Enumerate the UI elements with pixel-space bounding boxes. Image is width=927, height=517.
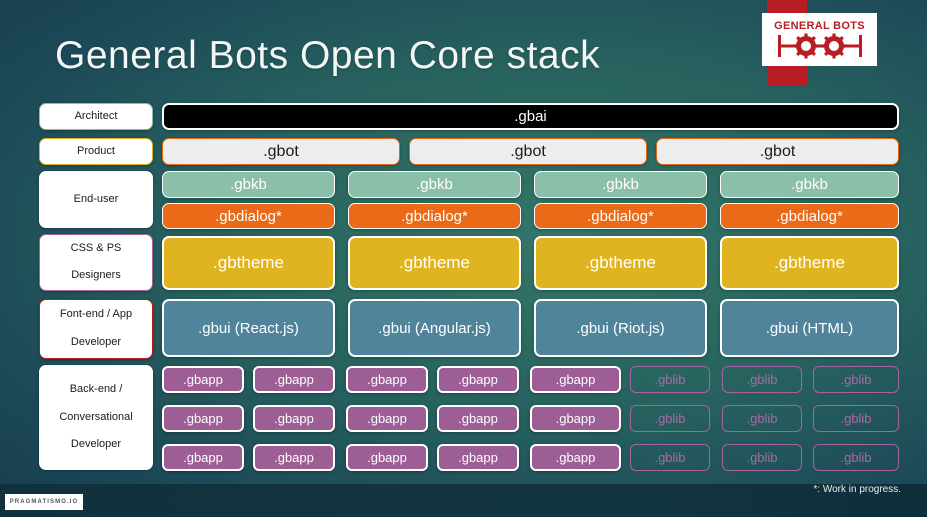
block-gbot[interactable]: .gbot — [409, 138, 647, 165]
row-label-front-end-app-developer[interactable]: Font-end / AppDeveloper — [39, 299, 153, 359]
row-label-css-ps-designers[interactable]: CSS & PSDesigners — [39, 234, 153, 291]
pragmatismo-logo: PRAGMATISMO.IO — [5, 494, 83, 510]
block-gbkb[interactable]: .gbkb — [720, 171, 899, 198]
general-bots-logo: GENERAL BOTS — [762, 13, 877, 66]
row-label-architect[interactable]: Architect — [39, 103, 153, 130]
block-gblib[interactable]: .gblib — [722, 405, 802, 432]
block-gbkb[interactable]: .gbkb — [534, 171, 707, 198]
block-gbui[interactable]: .gbui (Riot.js) — [534, 299, 707, 357]
block-gbapp[interactable]: .gbapp — [530, 444, 621, 471]
block-gbtheme[interactable]: .gbtheme — [162, 236, 335, 290]
block-gbai[interactable]: .gbai — [162, 103, 899, 130]
block-gbapp[interactable]: .gbapp — [437, 405, 519, 432]
block-gbapp[interactable]: .gbapp — [346, 366, 428, 393]
block-gblib[interactable]: .gblib — [630, 444, 710, 471]
row-label-back-end-conversational-developer[interactable]: Back-end /ConversationalDeveloper — [39, 365, 153, 470]
block-gbapp[interactable]: .gbapp — [530, 405, 621, 432]
row-label-line: Designers — [71, 269, 121, 283]
block-gbot[interactable]: .gbot — [162, 138, 400, 165]
footnote: *: Work in progress. — [813, 484, 901, 495]
block-gbapp[interactable]: .gbapp — [253, 444, 335, 471]
block-gbapp[interactable]: .gbapp — [437, 444, 519, 471]
block-gbapp[interactable]: .gbapp — [437, 366, 519, 393]
block-gbkb[interactable]: .gbkb — [162, 171, 335, 198]
block-gbapp[interactable]: .gbapp — [253, 405, 335, 432]
block-gbtheme[interactable]: .gbtheme — [348, 236, 521, 290]
row-label-line: Font-end / App — [60, 308, 132, 322]
row-label-line: Conversational — [59, 411, 132, 425]
row-label-line: End-user — [74, 193, 119, 207]
logo-wordmark: GENERAL BOTS — [774, 21, 865, 32]
block-gblib[interactable]: .gblib — [630, 405, 710, 432]
block-gbui[interactable]: .gbui (React.js) — [162, 299, 335, 357]
block-gbot[interactable]: .gbot — [656, 138, 899, 165]
block-gbdialog[interactable]: .gbdialog* — [162, 203, 335, 229]
row-label-line: Product — [77, 145, 115, 159]
slide: General Bots Open Core stack GENERAL BOT… — [0, 0, 927, 517]
block-gblib[interactable]: .gblib — [630, 366, 710, 393]
block-gblib[interactable]: .gblib — [813, 444, 899, 471]
row-label-line: Developer — [71, 438, 121, 452]
block-gbapp[interactable]: .gbapp — [162, 366, 244, 393]
gears-icon — [774, 33, 866, 59]
block-gblib[interactable]: .gblib — [722, 366, 802, 393]
block-gbapp[interactable]: .gbapp — [346, 444, 428, 471]
block-gbapp[interactable]: .gbapp — [346, 405, 428, 432]
block-gbdialog[interactable]: .gbdialog* — [720, 203, 899, 229]
block-gbtheme[interactable]: .gbtheme — [534, 236, 707, 290]
block-gblib[interactable]: .gblib — [813, 366, 899, 393]
row-label-line: CSS & PS — [71, 242, 122, 256]
block-gbdialog[interactable]: .gbdialog* — [534, 203, 707, 229]
block-gbapp[interactable]: .gbapp — [162, 444, 244, 471]
row-label-product[interactable]: Product — [39, 138, 153, 165]
block-gbapp[interactable]: .gbapp — [162, 405, 244, 432]
pragmatismo-wordmark: PRAGMATISMO.IO — [10, 499, 79, 505]
block-gbapp[interactable]: .gbapp — [530, 366, 621, 393]
block-gblib[interactable]: .gblib — [722, 444, 802, 471]
block-gbui[interactable]: .gbui (HTML) — [720, 299, 899, 357]
block-gbui[interactable]: .gbui (Angular.js) — [348, 299, 521, 357]
block-gbtheme[interactable]: .gbtheme — [720, 236, 899, 290]
block-gbdialog[interactable]: .gbdialog* — [348, 203, 521, 229]
row-label-end-user[interactable]: End-user — [39, 171, 153, 228]
block-gblib[interactable]: .gblib — [813, 405, 899, 432]
block-gbkb[interactable]: .gbkb — [348, 171, 521, 198]
row-label-line: Developer — [71, 336, 121, 350]
row-label-line: Architect — [75, 110, 118, 124]
footer-text: 2018Q4 - Corporate — [90, 492, 263, 514]
row-label-line: Back-end / — [70, 383, 123, 397]
page-title: General Bots Open Core stack — [55, 34, 600, 78]
block-gbapp[interactable]: .gbapp — [253, 366, 335, 393]
